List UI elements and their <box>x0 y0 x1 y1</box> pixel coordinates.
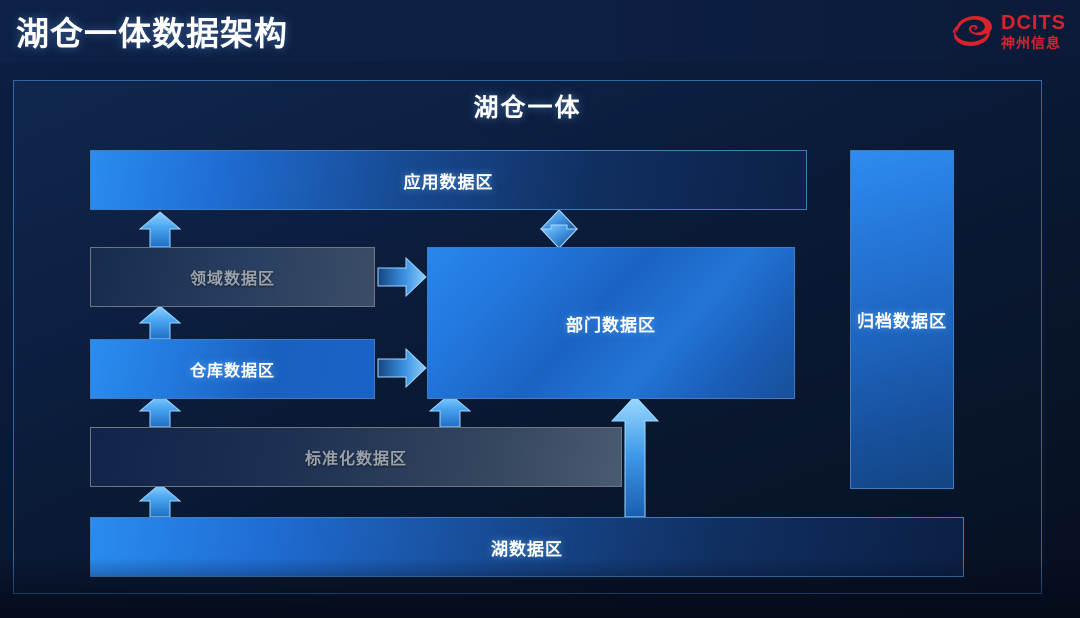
zone-lake-label: 湖数据区 <box>491 535 563 560</box>
arrow-department-to-app <box>536 210 582 248</box>
zone-standard[interactable]: 标准化数据区 <box>90 427 622 487</box>
lakehouse-container: 湖仓一体 <box>13 80 1042 594</box>
zone-warehouse-label: 仓库数据区 <box>190 357 275 381</box>
dcits-logo: DCITS 神州信息 <box>951 8 1066 54</box>
arrow-domain-to-app <box>140 212 180 247</box>
zone-archive[interactable]: 归档数据区 <box>850 150 954 489</box>
zone-lake[interactable]: 湖数据区 <box>90 517 964 577</box>
page-header: 湖仓一体数据架构 DCITS 神州信息 <box>0 0 1080 62</box>
zone-department-label: 部门数据区 <box>566 311 656 336</box>
zone-department[interactable]: 部门数据区 <box>427 247 795 399</box>
logo-text-en: DCITS <box>1001 13 1066 33</box>
zone-warehouse[interactable]: 仓库数据区 <box>90 339 375 399</box>
zone-app-label: 应用数据区 <box>404 168 494 193</box>
logo-wordmark: DCITS 神州信息 <box>1001 13 1066 50</box>
arrow-warehouse-to-domain <box>140 306 180 339</box>
zone-archive-label: 归档数据区 <box>857 307 947 332</box>
arrow-warehouse-to-department <box>378 349 426 387</box>
zone-domain-label: 领域数据区 <box>190 265 275 289</box>
zone-app[interactable]: 应用数据区 <box>90 150 807 210</box>
dcits-swirl-icon <box>951 11 995 51</box>
zone-standard-label: 标准化数据区 <box>305 445 407 469</box>
logo-text-cn: 神州信息 <box>1001 36 1066 50</box>
page-title: 湖仓一体数据架构 <box>16 7 288 55</box>
arrow-domain-to-department <box>378 258 426 296</box>
arrow-lake-to-standard <box>140 484 180 517</box>
zone-domain[interactable]: 领域数据区 <box>90 247 375 307</box>
